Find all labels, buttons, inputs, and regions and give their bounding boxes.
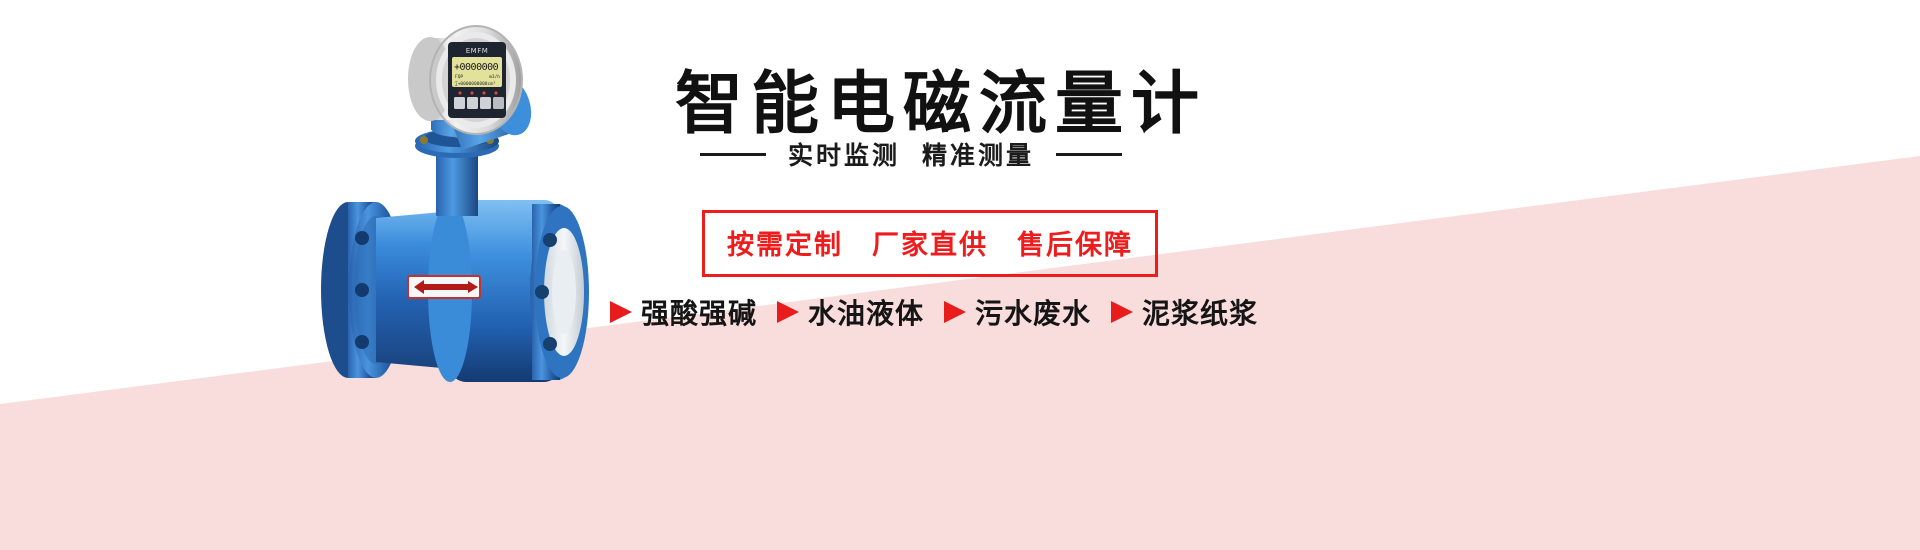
promo-text: 按需定制 厂家直供 售后保障 — [727, 230, 1133, 261]
feature-item: 水油液体 — [777, 292, 924, 332]
flowmeter-body — [321, 200, 589, 382]
svg-text:m3/h: m3/h — [489, 74, 500, 80]
svg-text:FQP: FQP — [455, 74, 463, 80]
promo-badge: 按需定制 厂家直供 售后保障 — [702, 210, 1158, 277]
triangle-right-icon — [610, 301, 632, 323]
svg-text:+0000000: +0000000 — [454, 62, 499, 73]
promotional-banner: EMFM +0000000 FQP m3/h ∑+0000000000cm³ — [0, 0, 1920, 550]
headline-block: 智能电磁流量计 实时监测 精准测量 按需定制 厂家直供 售后保障 强酸强碱 水油… — [600, 0, 1920, 550]
feature-item: 强酸强碱 — [610, 292, 757, 332]
triangle-right-icon — [1111, 301, 1133, 323]
product-image-flowmeter: EMFM +0000000 FQP m3/h ∑+0000000000cm³ — [300, 0, 640, 440]
triangle-right-icon — [777, 301, 799, 323]
subtitle-right: 精准测量 — [922, 136, 1034, 172]
feature-label: 泥浆纸浆 — [1142, 292, 1258, 332]
flow-direction-arrow-plate — [408, 276, 480, 298]
transmitter-head: EMFM +0000000 FQP m3/h ∑+0000000000cm³ — [408, 26, 538, 150]
page-title: 智能电磁流量计 — [675, 48, 1207, 147]
feature-item: 污水废水 — [944, 292, 1091, 332]
left-rule-icon — [700, 153, 766, 156]
feature-label: 污水废水 — [975, 292, 1091, 332]
svg-text:∑+0000000000cm³: ∑+0000000000cm³ — [455, 81, 496, 87]
subtitle-row: 实时监测 精准测量 — [700, 136, 1122, 172]
feature-list: 强酸强碱 水油液体 污水废水 泥浆纸浆 — [610, 292, 1258, 332]
svg-text:EMFM: EMFM — [466, 47, 489, 55]
feature-item: 泥浆纸浆 — [1111, 292, 1258, 332]
triangle-right-icon — [944, 301, 966, 323]
subtitle-left: 实时监测 — [788, 136, 900, 172]
feature-label: 强酸强碱 — [641, 292, 757, 332]
feature-label: 水油液体 — [808, 292, 924, 332]
right-rule-icon — [1056, 153, 1122, 156]
